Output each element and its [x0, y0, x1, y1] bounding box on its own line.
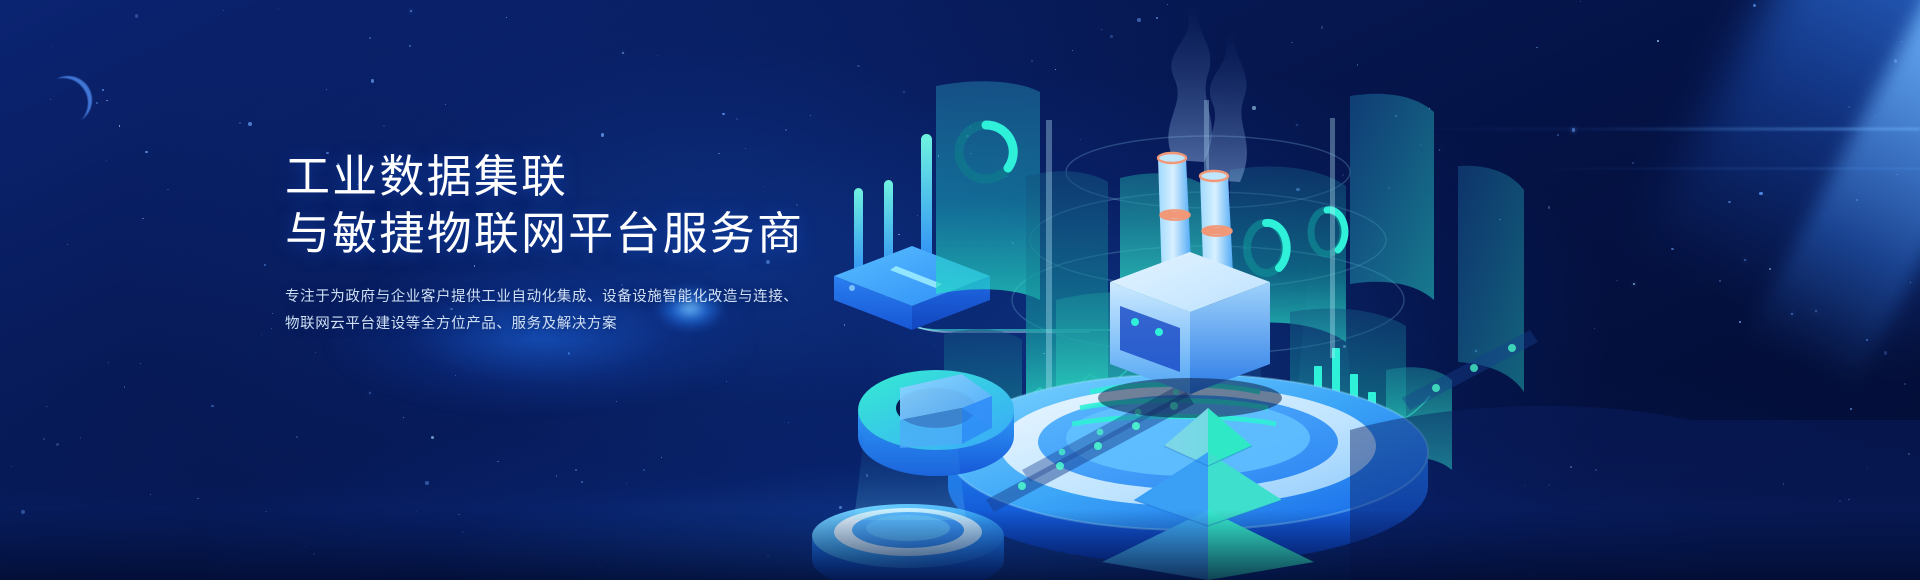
headline-line-1: 工业数据集联 [285, 148, 885, 205]
banner-copy: 工业数据集联 与敏捷物联网平台服务商 专注于为政府与企业客户提供工业自动化集成、… [285, 148, 885, 338]
panel-back-right [1350, 94, 1434, 300]
subtitle-line-2: 物联网云平台建设等全方位产品、服务及解决方案 [285, 311, 885, 338]
foreground-hill [1350, 406, 1920, 580]
isometric-illustration [790, 0, 1920, 580]
headline-line-2: 与敏捷物联网平台服务商 [285, 205, 885, 262]
panel-back-left [936, 81, 1040, 300]
hero-banner: 工业数据集联 与敏捷物联网平台服务商 专注于为政府与企业客户提供工业自动化集成、… [0, 0, 1920, 580]
factory-shadow [1098, 378, 1282, 418]
subtitle-line-1: 专注于为政府与企业客户提供工业自动化集成、设备设施智能化改造与连接、 [285, 284, 885, 311]
small-disc-beam [854, 420, 966, 520]
crescent-moon-icon [44, 76, 92, 124]
